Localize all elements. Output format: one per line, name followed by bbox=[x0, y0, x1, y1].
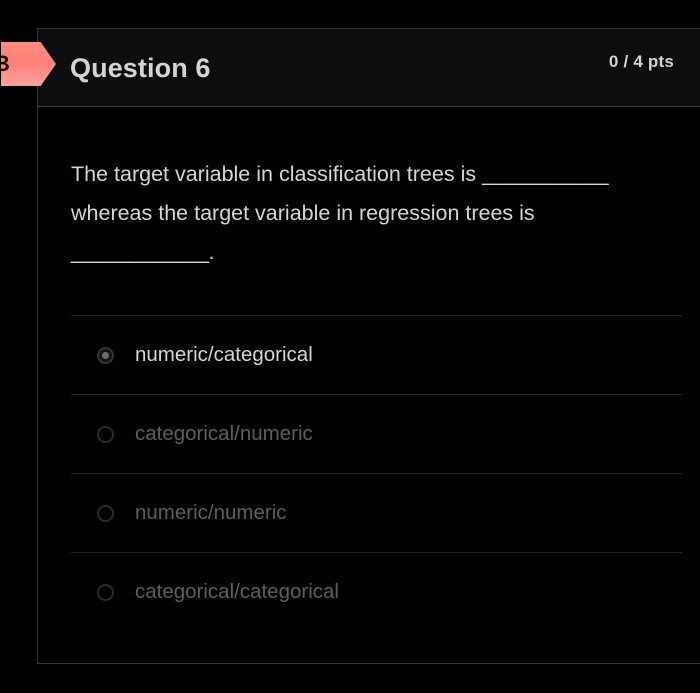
radio-button-icon[interactable] bbox=[97, 347, 114, 364]
answer-option-4[interactable]: categorical/categorical bbox=[71, 552, 682, 631]
radio-button-icon[interactable] bbox=[97, 505, 114, 522]
prompt-segment-3: . bbox=[209, 240, 215, 264]
prompt-blank-2: ____________ bbox=[71, 240, 209, 264]
radio-button-icon[interactable] bbox=[97, 584, 114, 601]
answer-option-2[interactable]: categorical/numeric bbox=[71, 394, 682, 473]
answer-option-1[interactable]: numeric/categorical bbox=[71, 315, 682, 394]
answer-option-3[interactable]: numeric/numeric bbox=[71, 473, 682, 552]
prompt-blank-1: ___________ bbox=[482, 162, 608, 186]
flag-tab-label: B bbox=[0, 49, 10, 79]
answer-option-label: numeric/categorical bbox=[135, 345, 313, 366]
question-prompt: The target variable in classification tr… bbox=[38, 107, 700, 272]
answer-option-label: categorical/numeric bbox=[135, 424, 313, 445]
points-badge: 0 / 4 pts bbox=[609, 52, 674, 84]
prompt-segment-2: whereas the target variable in regressio… bbox=[71, 201, 535, 225]
prompt-segment-1: The target variable in classification tr… bbox=[71, 162, 476, 186]
answer-option-label: numeric/numeric bbox=[135, 503, 287, 524]
radio-button-icon[interactable] bbox=[97, 426, 114, 443]
question-card: B Question 6 0 / 4 pts The target variab… bbox=[37, 28, 700, 664]
answer-options-list: numeric/categorical categorical/numeric … bbox=[38, 315, 700, 631]
page-title: Question 6 bbox=[70, 53, 211, 82]
question-body: The target variable in classification tr… bbox=[38, 107, 700, 631]
answer-option-label: categorical/categorical bbox=[135, 582, 339, 603]
question-header: Question 6 0 / 4 pts bbox=[38, 29, 700, 107]
